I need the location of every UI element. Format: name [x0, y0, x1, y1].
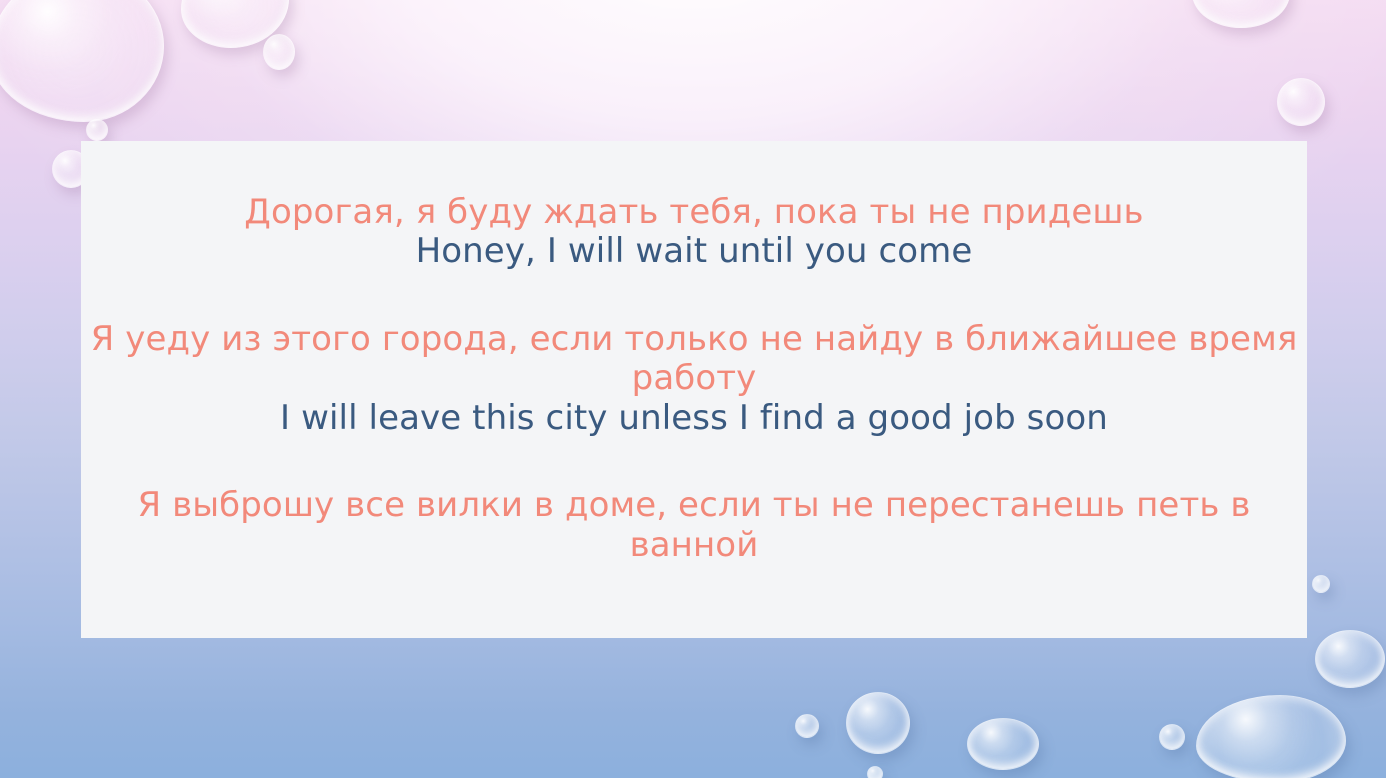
droplet-icon — [1159, 724, 1185, 750]
droplet-icon — [795, 714, 819, 738]
droplet-icon — [846, 692, 910, 754]
droplet-icon — [867, 766, 883, 778]
sentence-pair: Дорогая, я буду ждать тебя, пока ты не п… — [87, 193, 1301, 272]
content-panel: Дорогая, я буду ждать тебя, пока ты не п… — [81, 141, 1307, 638]
sentence-pair: Я выброшу все вилки в доме, если ты не п… — [87, 486, 1301, 565]
droplet-icon — [1196, 695, 1346, 778]
english-sentence: I will leave this city unless I find a g… — [87, 399, 1301, 438]
sentence-pair: Я уеду из этого города, если только не н… — [87, 320, 1301, 438]
russian-sentence: Я уеду из этого города, если только не н… — [87, 320, 1301, 399]
droplet-icon — [86, 119, 108, 141]
droplet-icon — [1277, 78, 1325, 126]
droplet-icon — [263, 34, 295, 70]
droplet-icon — [1312, 575, 1330, 593]
droplet-icon — [1315, 630, 1385, 688]
russian-sentence: Дорогая, я буду ждать тебя, пока ты не п… — [87, 193, 1301, 232]
block-spacer — [87, 272, 1301, 320]
block-spacer — [87, 438, 1301, 486]
russian-sentence: Я выброшу все вилки в доме, если ты не п… — [87, 486, 1301, 565]
presentation-slide: Дорогая, я буду ждать тебя, пока ты не п… — [0, 0, 1386, 778]
droplet-icon — [967, 718, 1039, 770]
droplet-icon — [181, 0, 289, 48]
droplet-icon — [0, 0, 164, 122]
droplet-icon — [1192, 0, 1290, 28]
english-sentence: Honey, I will wait until you come — [87, 232, 1301, 271]
